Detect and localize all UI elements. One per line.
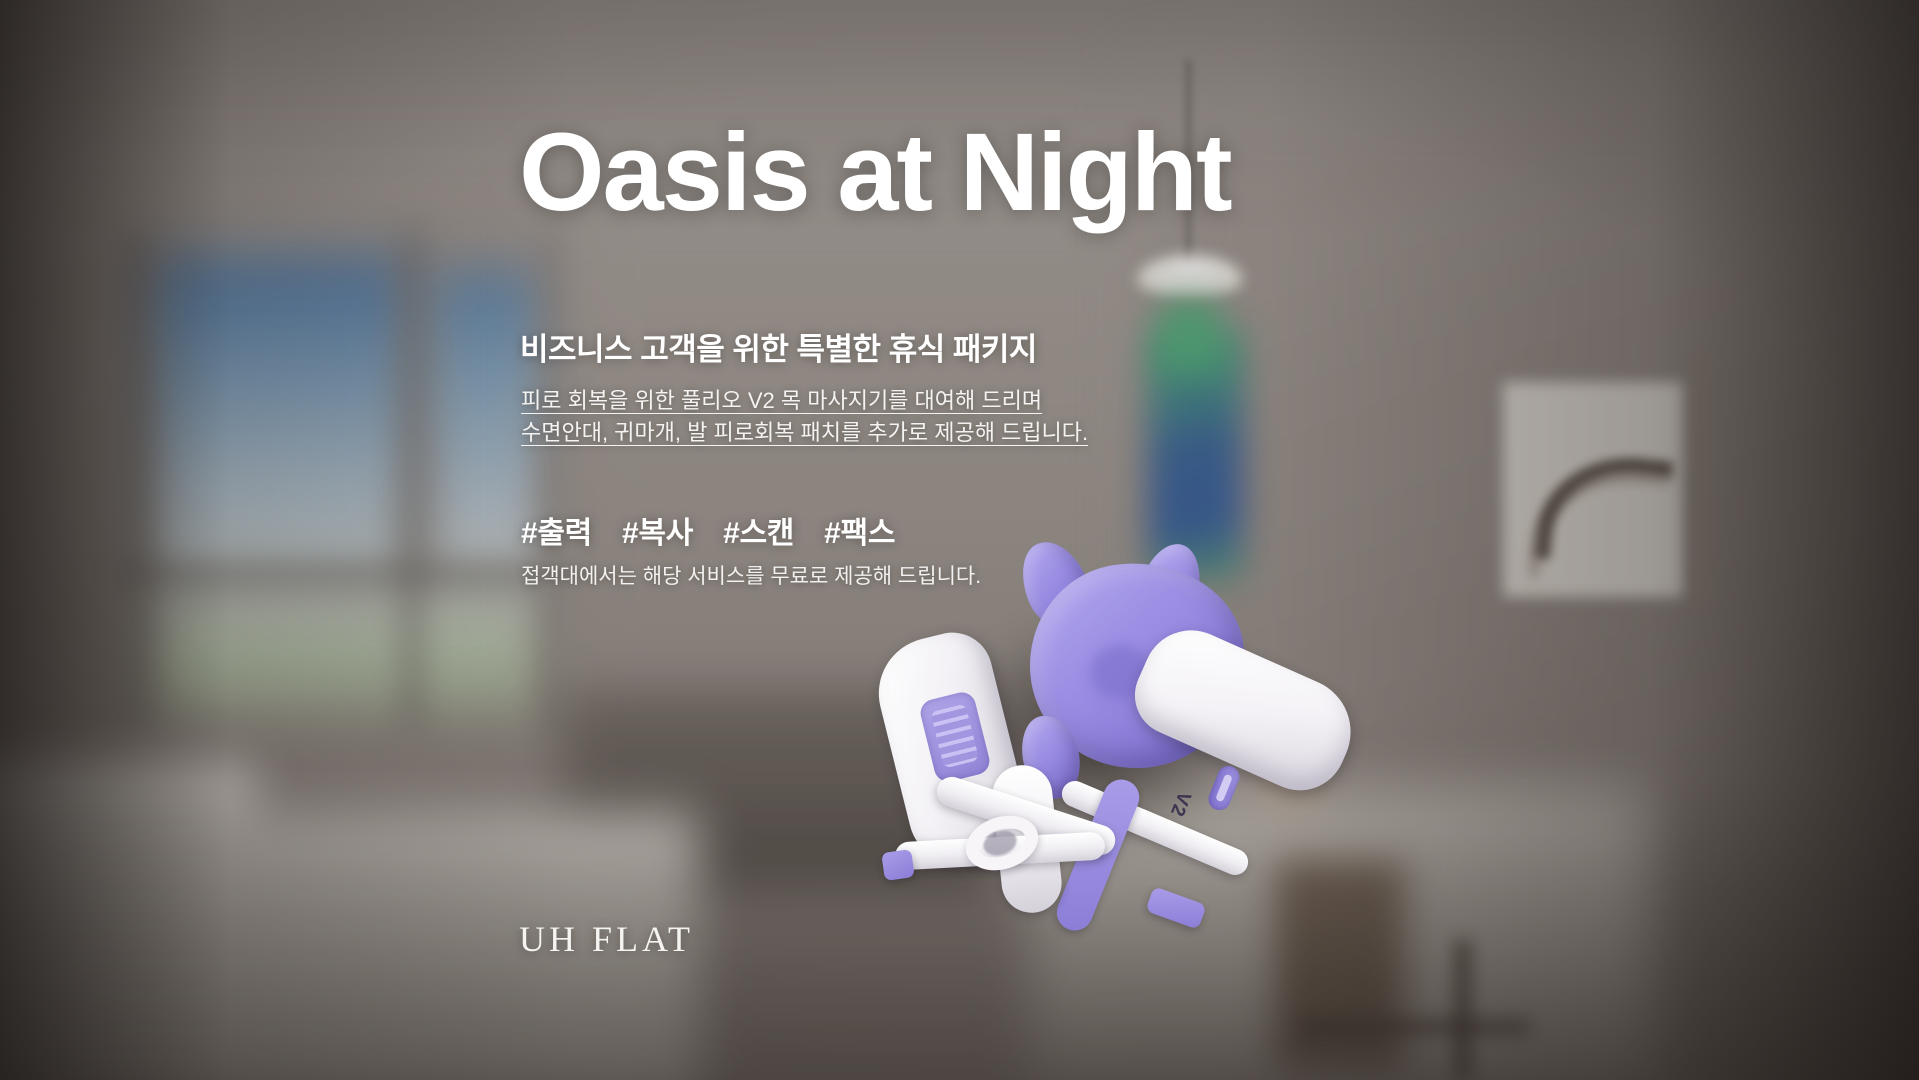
description: 피로 회복을 위한 풀리오 V2 목 마사지기를 대여해 드리며 수면안대, 귀… <box>521 385 1088 450</box>
strap-tip-bottom <box>1145 886 1207 930</box>
service-tag-copy: #복사 <box>622 517 693 550</box>
service-tag-fax: #팩스 <box>824 517 895 550</box>
brand-logo: UH FLAT <box>519 918 694 960</box>
service-note: 접객대에서는 해당 서비스를 무료로 제공해 드립니다. <box>521 560 981 590</box>
description-line-2: 수면안대, 귀마개, 발 피로회복 패치를 추가로 제공해 드립니다. <box>521 420 1088 445</box>
promo-banner: V2 Oasis at Night 비즈니스 고객을 위한 특별한 휴식 패키지… <box>0 0 1919 1080</box>
strap-tip-left <box>881 849 915 881</box>
subtitle: 비즈니스 고객을 위한 특별한 휴식 패키지 <box>520 324 1037 369</box>
service-tag-list: #출력 #복사 #스캔 #팩스 <box>521 508 895 552</box>
description-line-1: 피로 회복을 위한 풀리오 V2 목 마사지기를 대여해 드리며 <box>521 388 1042 413</box>
page-title: Oasis at Night <box>519 118 1231 228</box>
service-tag-print: #출력 <box>521 517 592 550</box>
service-tag-scan: #스캔 <box>723 517 794 550</box>
product-image-pulio-v2: V2 <box>905 565 1365 965</box>
